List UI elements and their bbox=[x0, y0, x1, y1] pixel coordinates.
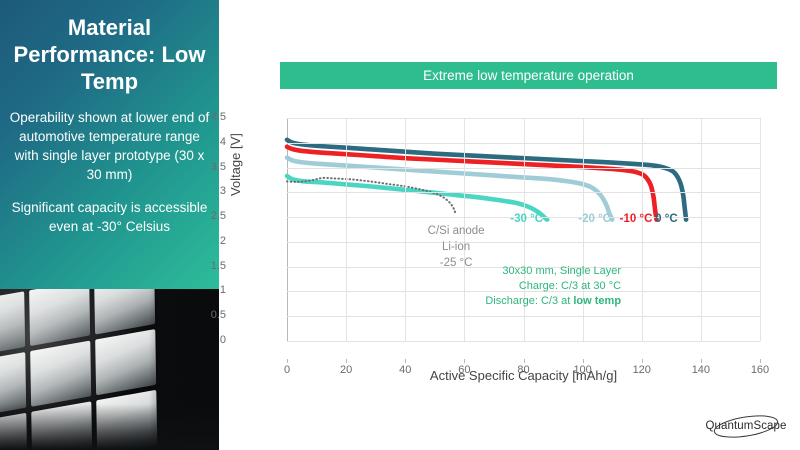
y-axis-label: Voltage [V] bbox=[228, 133, 243, 196]
gridline-vertical bbox=[346, 118, 347, 341]
voltage-capacity-chart: Voltage [V] Active Specific Capacity [mA… bbox=[232, 100, 792, 390]
y-axis-tick-label: 0.5 bbox=[186, 309, 226, 321]
x-axis-tick-mark bbox=[701, 359, 702, 363]
x-axis-tick-label: 60 bbox=[444, 364, 484, 376]
x-axis-tick-label: 80 bbox=[504, 364, 544, 376]
series-curve bbox=[287, 176, 547, 220]
y-axis-tick-label: 1 bbox=[186, 284, 226, 296]
y-axis-tick-label: 2 bbox=[186, 235, 226, 247]
x-axis-tick-label: 140 bbox=[681, 364, 721, 376]
y-axis-tick-label: 3.5 bbox=[186, 161, 226, 173]
slide: Material Performance: Low Temp Operabili… bbox=[0, 0, 800, 450]
test-conditions-annotation: 30x30 mm, Single LayerCharge: C/3 at 30 … bbox=[464, 264, 621, 309]
x-axis-tick-label: 20 bbox=[326, 364, 366, 376]
x-axis-tick-mark bbox=[287, 359, 288, 363]
gridline-vertical bbox=[760, 118, 761, 341]
annotation-line: 30x30 mm, Single Layer bbox=[464, 264, 621, 279]
panel-body-text-2: Significant capacity is accessible even … bbox=[8, 198, 211, 236]
x-axis-tick-mark bbox=[583, 359, 584, 363]
x-axis-tick-label: 40 bbox=[385, 364, 425, 376]
panel-body-text-1: Operability shown at lower end of automo… bbox=[8, 108, 211, 184]
x-axis-tick-mark bbox=[760, 359, 761, 363]
x-axis-tick-mark bbox=[346, 359, 347, 363]
x-axis-tick-mark bbox=[642, 359, 643, 363]
gridline-vertical bbox=[701, 118, 702, 341]
x-axis-tick-label: 160 bbox=[740, 364, 780, 376]
annotation-line: Charge: C/3 at 30 °C bbox=[464, 279, 621, 294]
y-axis-tick-label: 2.5 bbox=[186, 210, 226, 222]
y-axis-tick-label: 0 bbox=[186, 334, 226, 346]
photo-shadow-bottom bbox=[0, 404, 219, 450]
y-axis-tick-label: 3 bbox=[186, 185, 226, 197]
panel-title: Material Performance: Low Temp bbox=[0, 14, 219, 95]
series-label--30c: -30 °C bbox=[510, 213, 543, 225]
annotation-line: Discharge: C/3 at low temp bbox=[464, 294, 621, 309]
gridline-horizontal bbox=[287, 341, 760, 342]
y-axis-tick-label: 4.5 bbox=[186, 111, 226, 123]
x-axis-tick-label: 120 bbox=[622, 364, 662, 376]
x-axis-tick-label: 100 bbox=[563, 364, 603, 376]
series-label-0c: 0 °C bbox=[655, 213, 678, 225]
x-axis-tick-mark bbox=[524, 359, 525, 363]
logo-text: QuantumScape bbox=[700, 420, 792, 432]
gridline-vertical bbox=[642, 118, 643, 341]
series-label--10c: -10 °C bbox=[620, 213, 653, 225]
gridline-vertical bbox=[405, 118, 406, 341]
y-axis-tick-label: 1.5 bbox=[186, 260, 226, 272]
x-axis-tick-label: 0 bbox=[267, 364, 307, 376]
annotation-line: C/Si anode bbox=[414, 223, 498, 239]
quantumscape-logo: QuantumScape bbox=[700, 412, 792, 442]
annotation-emphasis: low temp bbox=[573, 295, 621, 307]
series-label--20c: -20 °C bbox=[578, 213, 611, 225]
x-axis-tick-mark bbox=[464, 359, 465, 363]
x-axis-tick-mark bbox=[405, 359, 406, 363]
chart-title-banner: Extreme low temperature operation bbox=[280, 62, 777, 89]
y-axis-tick-label: 4 bbox=[186, 136, 226, 148]
annotation-line: Li-ion bbox=[414, 239, 498, 255]
